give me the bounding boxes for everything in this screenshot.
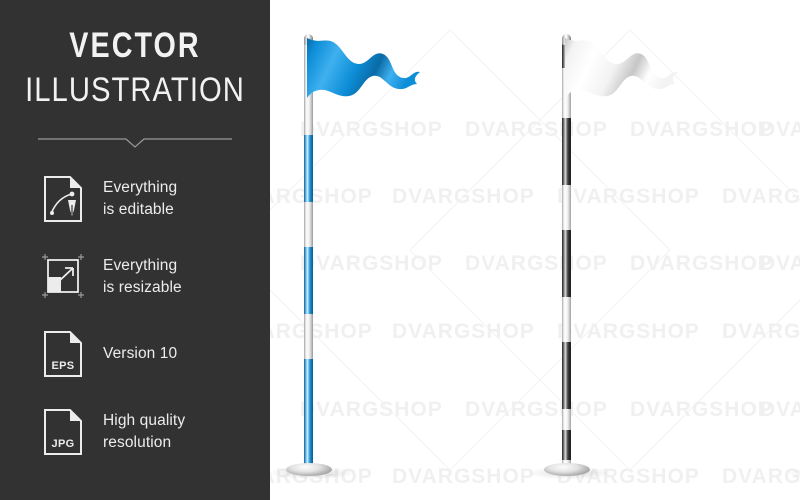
sidebar-panel: VECTOR ILLUSTRATION Everythin [0,0,270,500]
pole-stripe [304,359,313,426]
pennant-flag[interactable] [307,36,427,146]
resize-crop-icon [40,252,86,302]
jpg-badge: JPG [40,438,86,450]
yellow-flag[interactable] [666,0,800,500]
eps-file-icon: EPS [40,329,86,379]
page-title: VECTOR [24,28,245,65]
feature-label: Everything is editable [103,177,177,221]
jpg-file-icon: JPG [40,407,86,457]
feature-label: High quality resolution [103,410,185,454]
eps-badge: EPS [40,360,86,372]
feature-version: EPS Version 10 [40,325,255,383]
feature-everything-resizable: Everything is resizable [40,248,255,306]
feature-everything-editable: Everything is editable [40,170,255,228]
page-subtitle: ILLUSTRATION [19,69,251,112]
pennant-shape [307,38,420,98]
chevron-divider [38,135,232,151]
title-block: VECTOR ILLUSTRATION [0,28,270,111]
illustration-preview: VECTOR ILLUSTRATION Everythin [0,0,800,500]
pole-base [286,463,332,476]
feature-label: Version 10 [103,343,177,365]
artwork-canvas: DVARGSHOPDVARGSHOPDVARGSHOPDVARGSHOPDVAR… [270,0,800,500]
document-pen-tool-icon [40,174,86,224]
pole-stripe [304,247,313,314]
feature-label: Everything is resizable [103,255,182,299]
feature-high-quality: JPG High quality resolution [40,403,255,461]
